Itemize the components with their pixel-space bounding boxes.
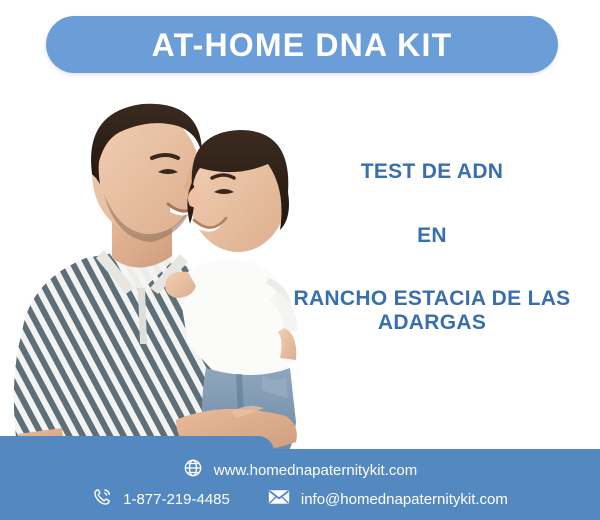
footer-row-phone-email: 1-877-219-4485 info@homednapaternitykit.…	[92, 487, 508, 512]
footer-row-website: www.homednapaternitykit.com	[183, 458, 417, 483]
footer-contact-group: www.homednapaternitykit.com 1-877-219-44…	[0, 449, 600, 520]
poster-root: AT-HOME DNA KIT	[0, 0, 600, 520]
footer-website-text: www.homednapaternitykit.com	[214, 463, 417, 478]
header-banner: AT-HOME DNA KIT	[46, 16, 558, 73]
headline-line-location: RANCHO ESTACIA DE LAS ADARGAS	[276, 287, 588, 334]
headline-line-connector: EN	[276, 224, 588, 248]
footer-phone-item[interactable]: 1-877-219-4485	[92, 487, 230, 512]
page-title: AT-HOME DNA KIT	[152, 29, 453, 61]
envelope-icon	[268, 487, 290, 512]
headline-block: TEST DE ADN EN RANCHO ESTACIA DE LAS ADA…	[276, 160, 588, 334]
phone-icon	[92, 487, 112, 512]
footer-email-item[interactable]: info@homednapaternitykit.com	[268, 487, 508, 512]
footer-phone-text: 1-877-219-4485	[123, 492, 230, 507]
globe-icon	[183, 458, 203, 483]
footer-website-item[interactable]: www.homednapaternitykit.com	[183, 458, 417, 483]
hero-photo	[0, 82, 320, 454]
headline-line-service: TEST DE ADN	[276, 160, 588, 184]
footer-email-text: info@homednapaternitykit.com	[301, 492, 508, 507]
